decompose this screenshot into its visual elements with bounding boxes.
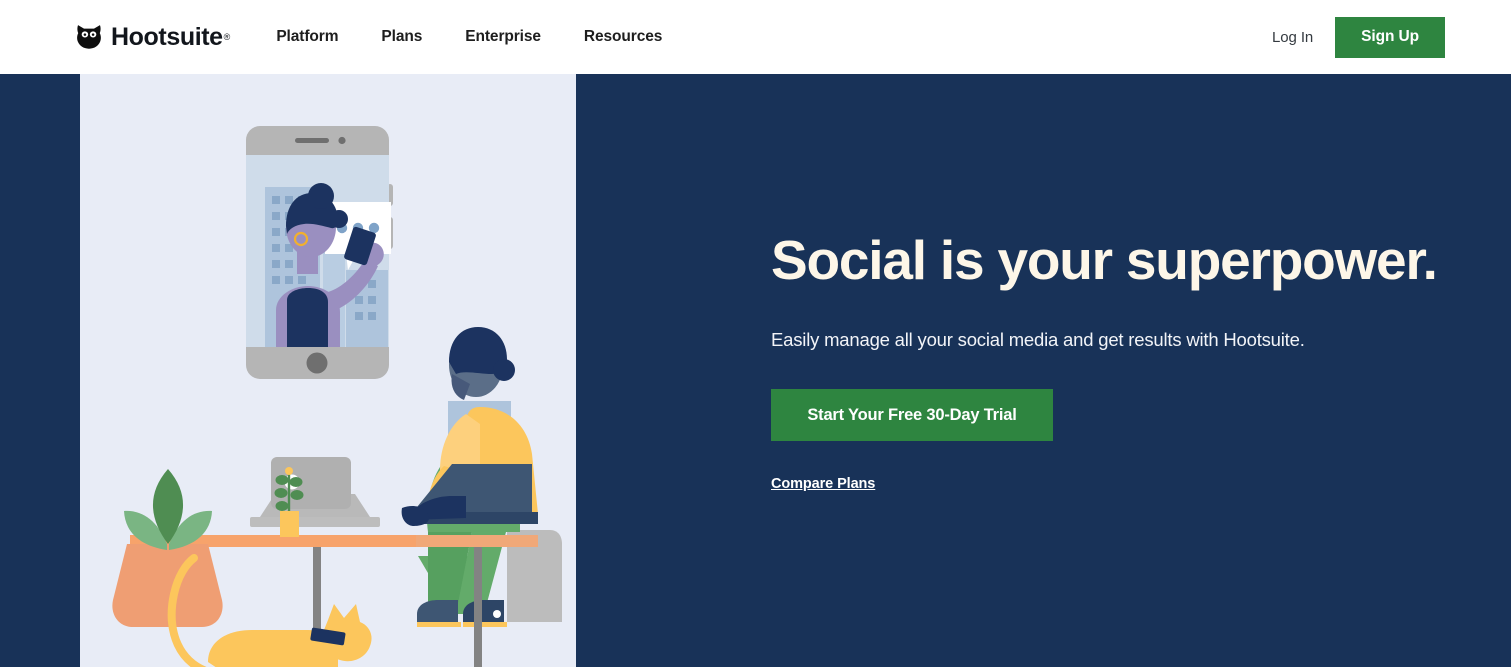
signup-button[interactable]: Sign Up [1335,17,1445,58]
nav-item-platform[interactable]: Platform [276,28,338,46]
main-navigation: Platform Plans Enterprise Resources [276,28,662,46]
hero-section: # [0,74,1511,667]
laptop [250,457,380,527]
hero-title: Social is your superpower. [771,232,1437,290]
social-media-workspace-illustration: # [80,74,576,667]
nav-item-plans[interactable]: Plans [381,28,422,46]
start-free-trial-button[interactable]: Start Your Free 30-Day Trial [771,389,1053,441]
brand-logo[interactable]: Hootsuite ® [76,24,230,50]
registered-mark: ® [224,32,231,42]
hero-copy: Social is your superpower. Easily manage… [771,74,1471,667]
compare-plans-link[interactable]: Compare Plans [771,476,875,492]
hero-subtitle: Easily manage all your social media and … [771,329,1305,351]
login-link[interactable]: Log In [1272,29,1313,46]
brand-name: Hootsuite [111,25,223,50]
hero-illustration-panel: # [80,74,576,667]
site-header: Hootsuite ® Platform Plans Enterprise Re… [0,0,1511,74]
potted-plant-large [112,469,222,627]
header-actions: Log In Sign Up [1272,17,1445,58]
nav-item-enterprise[interactable]: Enterprise [465,28,541,46]
smartphone-with-selfie-woman [246,126,393,379]
owl-icon [76,24,102,50]
nav-item-resources[interactable]: Resources [584,28,662,46]
